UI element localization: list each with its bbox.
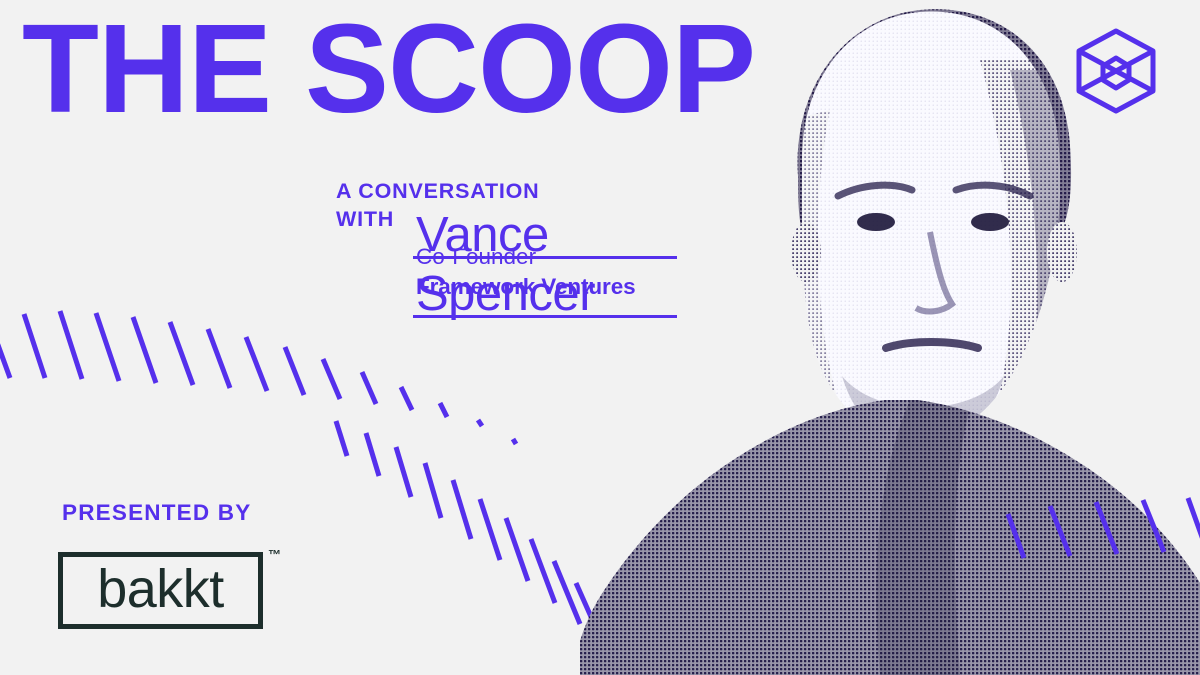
bakkt-wordmark: bakkt bbox=[97, 562, 224, 616]
sponsor-block: PRESENTED BY bakkt ™ bbox=[58, 500, 290, 636]
bakkt-logo-box: bakkt bbox=[58, 552, 263, 629]
bakkt-logo: bakkt ™ bbox=[58, 544, 290, 636]
promo-graphic: THE SCOOP A CONVERSATION WITH Vance Spen… bbox=[0, 0, 1200, 675]
presented-by-label: PRESENTED BY bbox=[62, 500, 290, 526]
guest-name-group: Vance Spencer bbox=[413, 200, 677, 318]
cube-icon bbox=[1076, 28, 1156, 114]
guest-info-block: A CONVERSATION WITH Vance Spencer Co-Fou… bbox=[336, 178, 676, 301]
guest-last-name-row: Spencer bbox=[413, 259, 677, 318]
page-title: THE SCOOP bbox=[22, 6, 755, 132]
guest-last-name: Spencer bbox=[416, 270, 595, 319]
guest-first-name: Vance bbox=[416, 211, 549, 260]
guest-first-name-row: Vance bbox=[413, 200, 677, 259]
trademark-symbol: ™ bbox=[268, 547, 281, 562]
